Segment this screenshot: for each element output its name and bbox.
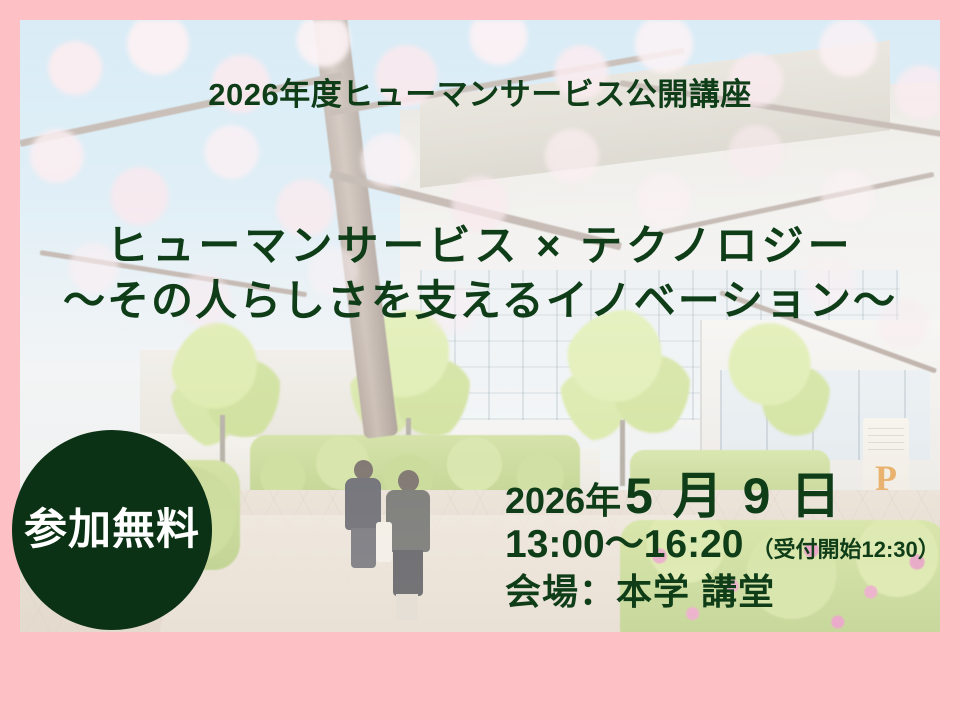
person-walking-3 (380, 470, 436, 620)
free-admission-label: 参加無料 (24, 508, 200, 553)
event-time-range: 13:00〜16:20 (505, 522, 744, 568)
subtitle-line-1: ヒューマンサービス × テクノロジー (0, 218, 960, 274)
event-time-line: 13:00〜16:20 （受付開始12:30） (505, 522, 940, 568)
subtitle: ヒューマンサービス × テクノロジー 〜その人らしさを支えるイノベーション〜 (0, 218, 960, 328)
person-2-body (345, 478, 381, 530)
event-date-line: 2026年 5 月 9 日 (505, 470, 940, 522)
person-3-tote-bag (376, 522, 392, 562)
person-2-legs (351, 528, 376, 568)
subtitle-line-2: 〜その人らしさを支えるイノベーション〜 (0, 274, 960, 328)
free-admission-badge: 参加無料 (12, 430, 212, 630)
person-2-head (354, 460, 373, 480)
event-poster: P (0, 0, 960, 720)
event-year: 2026年 (505, 475, 621, 527)
parking-sign-text-band (868, 424, 904, 450)
person-3-legs (393, 550, 423, 596)
event-details: 2026年 5 月 9 日 13:00〜16:20 （受付開始12:30） 会場… (505, 470, 940, 616)
person-3-lower-legs (396, 594, 418, 620)
page-title: 2026年度ヒューマンサービス公開講座 (0, 78, 960, 112)
event-venue: 会場：本学 講堂 (505, 568, 940, 616)
event-month-day: 5 月 9 日 (621, 470, 843, 522)
person-3-head (398, 470, 419, 492)
event-reception-note: （受付開始12:30） (744, 527, 940, 573)
person-3-body (386, 490, 430, 552)
